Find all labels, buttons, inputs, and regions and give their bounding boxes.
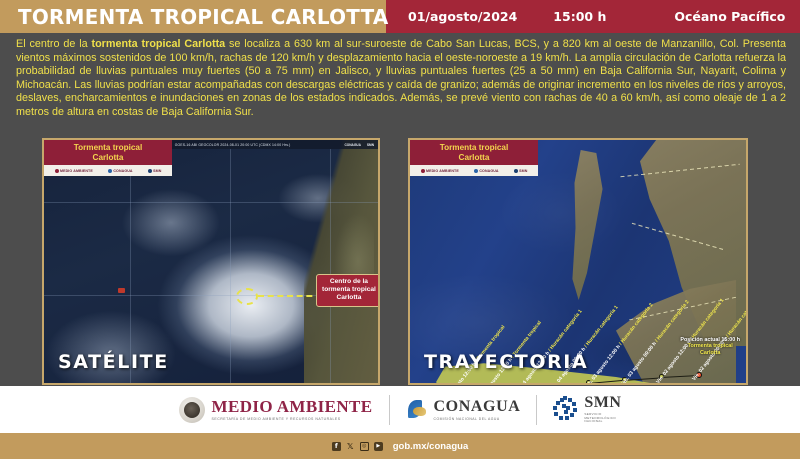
smn-mini-logo: SMN	[367, 143, 374, 147]
track-point-3[interactable]	[550, 384, 555, 385]
trajectory-brand-line2: Carlotta	[412, 153, 536, 163]
satellite-gridline-v3	[330, 149, 331, 383]
footer-social-bar: f 𝕏 ◎ ▶ gob.mx/conagua	[0, 433, 800, 459]
conagua-water-icon	[406, 398, 428, 422]
brand-logo-medio-ambiente: MEDIO AMBIENTE	[55, 169, 93, 173]
satellite-gridline-h1	[44, 202, 378, 203]
brand-logo-conagua: CONAGUA	[474, 169, 499, 173]
header-bar: TORMENTA TROPICAL CARLOTTA 01/agosto/202…	[0, 0, 800, 33]
description-highlight: tormenta tropical Carlotta	[91, 38, 225, 50]
current-position-line3: Carlotta	[680, 350, 740, 357]
header-region: Océano Pacífico	[674, 9, 785, 24]
brand-logo-medio-ambiente: MEDIO AMBIENTE	[421, 169, 459, 173]
trajectory-brand-logos: MEDIO AMBIENTE CONAGUA SMN	[410, 165, 538, 176]
satellite-brand-logos: MEDIO AMBIENTE CONAGUA SMN	[44, 165, 172, 176]
conagua-text: CONAGUA COMISIÓN NACIONAL DEL AGUA	[434, 399, 521, 421]
header-date: 01/agosto/2024	[408, 9, 517, 24]
storm-center-ring	[236, 288, 258, 305]
header-title-container: TORMENTA TROPICAL CARLOTTA	[0, 0, 386, 33]
instagram-icon[interactable]: ◎	[360, 442, 369, 451]
satellite-location-marker	[118, 288, 125, 293]
satellite-brand-line1: Tormenta tropical	[46, 143, 170, 153]
footer-logo-bar: MEDIO AMBIENTE SECRETARÍA DE MEDIO AMBIE…	[0, 386, 800, 433]
satellite-brand-header: Tormenta tropical Carlotta MEDIO AMBIENT…	[44, 140, 172, 176]
smn-name: SMN	[584, 395, 621, 411]
brand-logo-conagua: CONAGUA	[108, 169, 133, 173]
smn-spiral-icon	[553, 396, 579, 422]
satellite-gridline-v2	[230, 149, 231, 383]
satellite-panel[interactable]: GOES-16 ABI GEOCOLOR 2024-08-01 20:00 UT…	[42, 138, 380, 385]
medio-ambiente-name: MEDIO AMBIENTE	[212, 398, 373, 415]
trajectory-panel[interactable]: Mar. 06 agosto 12:00 h / Tormenta tropic…	[408, 138, 748, 385]
satellite-gridline-v1	[130, 149, 131, 383]
logo-conagua: CONAGUA COMISIÓN NACIONAL DEL AGUA	[406, 398, 521, 422]
infographic-page: TORMENTA TROPICAL CARLOTTA 01/agosto/202…	[0, 0, 800, 459]
youtube-icon[interactable]: ▶	[374, 442, 383, 451]
website-url[interactable]: gob.mx/conagua	[393, 441, 468, 452]
medio-ambiente-text: MEDIO AMBIENTE SECRETARÍA DE MEDIO AMBIE…	[212, 398, 373, 421]
brand-logo-smn: SMN	[148, 169, 162, 173]
smn-subtitle: SERVICIO METEOROLÓGICO NACIONAL	[584, 413, 621, 424]
storm-center-pointer-line	[258, 295, 322, 297]
callout-line-2: tormenta tropical	[322, 286, 376, 294]
current-position-label: Posición actual 15:00 h Tormenta tropica…	[680, 337, 740, 357]
trajectory-brand-header: Tormenta tropical Carlotta MEDIO AMBIENT…	[410, 140, 538, 176]
conagua-name: CONAGUA	[434, 399, 521, 415]
conagua-mini-logo: CONAGUA	[344, 143, 360, 147]
logo-divider-2	[536, 395, 537, 425]
track-segment	[552, 383, 589, 385]
medio-ambiente-subtitle: SECRETARÍA DE MEDIO AMBIENTE Y RECURSOS …	[212, 417, 373, 421]
satellite-brand-line2: Carlotta	[46, 153, 170, 163]
logo-divider-1	[389, 395, 390, 425]
trajectory-brand-title: Tormenta tropical Carlotta	[410, 140, 538, 165]
satellite-source-text: GOES-16 ABI GEOCOLOR 2024-08-01 20:00 UT…	[175, 143, 291, 147]
header-time: 15:00 h	[553, 9, 606, 24]
logo-medio-ambiente: MEDIO AMBIENTE SECRETARÍA DE MEDIO AMBIE…	[179, 397, 373, 423]
storm-center-callout: Centro de la tormenta tropical Carlotta	[316, 274, 380, 307]
logo-smn: SMN SERVICIO METEOROLÓGICO NACIONAL	[553, 395, 621, 424]
satellite-panel-label: SATÉLITE	[58, 351, 169, 373]
page-title: TORMENTA TROPICAL CARLOTTA	[18, 5, 389, 29]
trajectory-panel-label: TRAYECTORIA	[424, 351, 588, 373]
trajectory-brand-line1: Tormenta tropical	[412, 143, 536, 153]
forecast-description: El centro de la tormenta tropical Carlot…	[16, 38, 786, 120]
facebook-icon[interactable]: f	[332, 442, 341, 451]
description-lead: El centro de la	[16, 38, 91, 50]
header-meta: 01/agosto/2024 15:00 h Océano Pacífico	[386, 0, 800, 33]
conagua-subtitle: COMISIÓN NACIONAL DEL AGUA	[434, 417, 521, 421]
callout-line-1: Centro de la	[322, 278, 376, 286]
smn-text: SMN SERVICIO METEOROLÓGICO NACIONAL	[584, 395, 621, 424]
mexican-eagle-icon	[179, 397, 205, 423]
callout-line-3: Carlotta	[322, 294, 376, 302]
brand-logo-smn: SMN	[514, 169, 528, 173]
satellite-brand-title: Tormenta tropical Carlotta	[44, 140, 172, 165]
x-icon[interactable]: 𝕏	[346, 442, 355, 451]
